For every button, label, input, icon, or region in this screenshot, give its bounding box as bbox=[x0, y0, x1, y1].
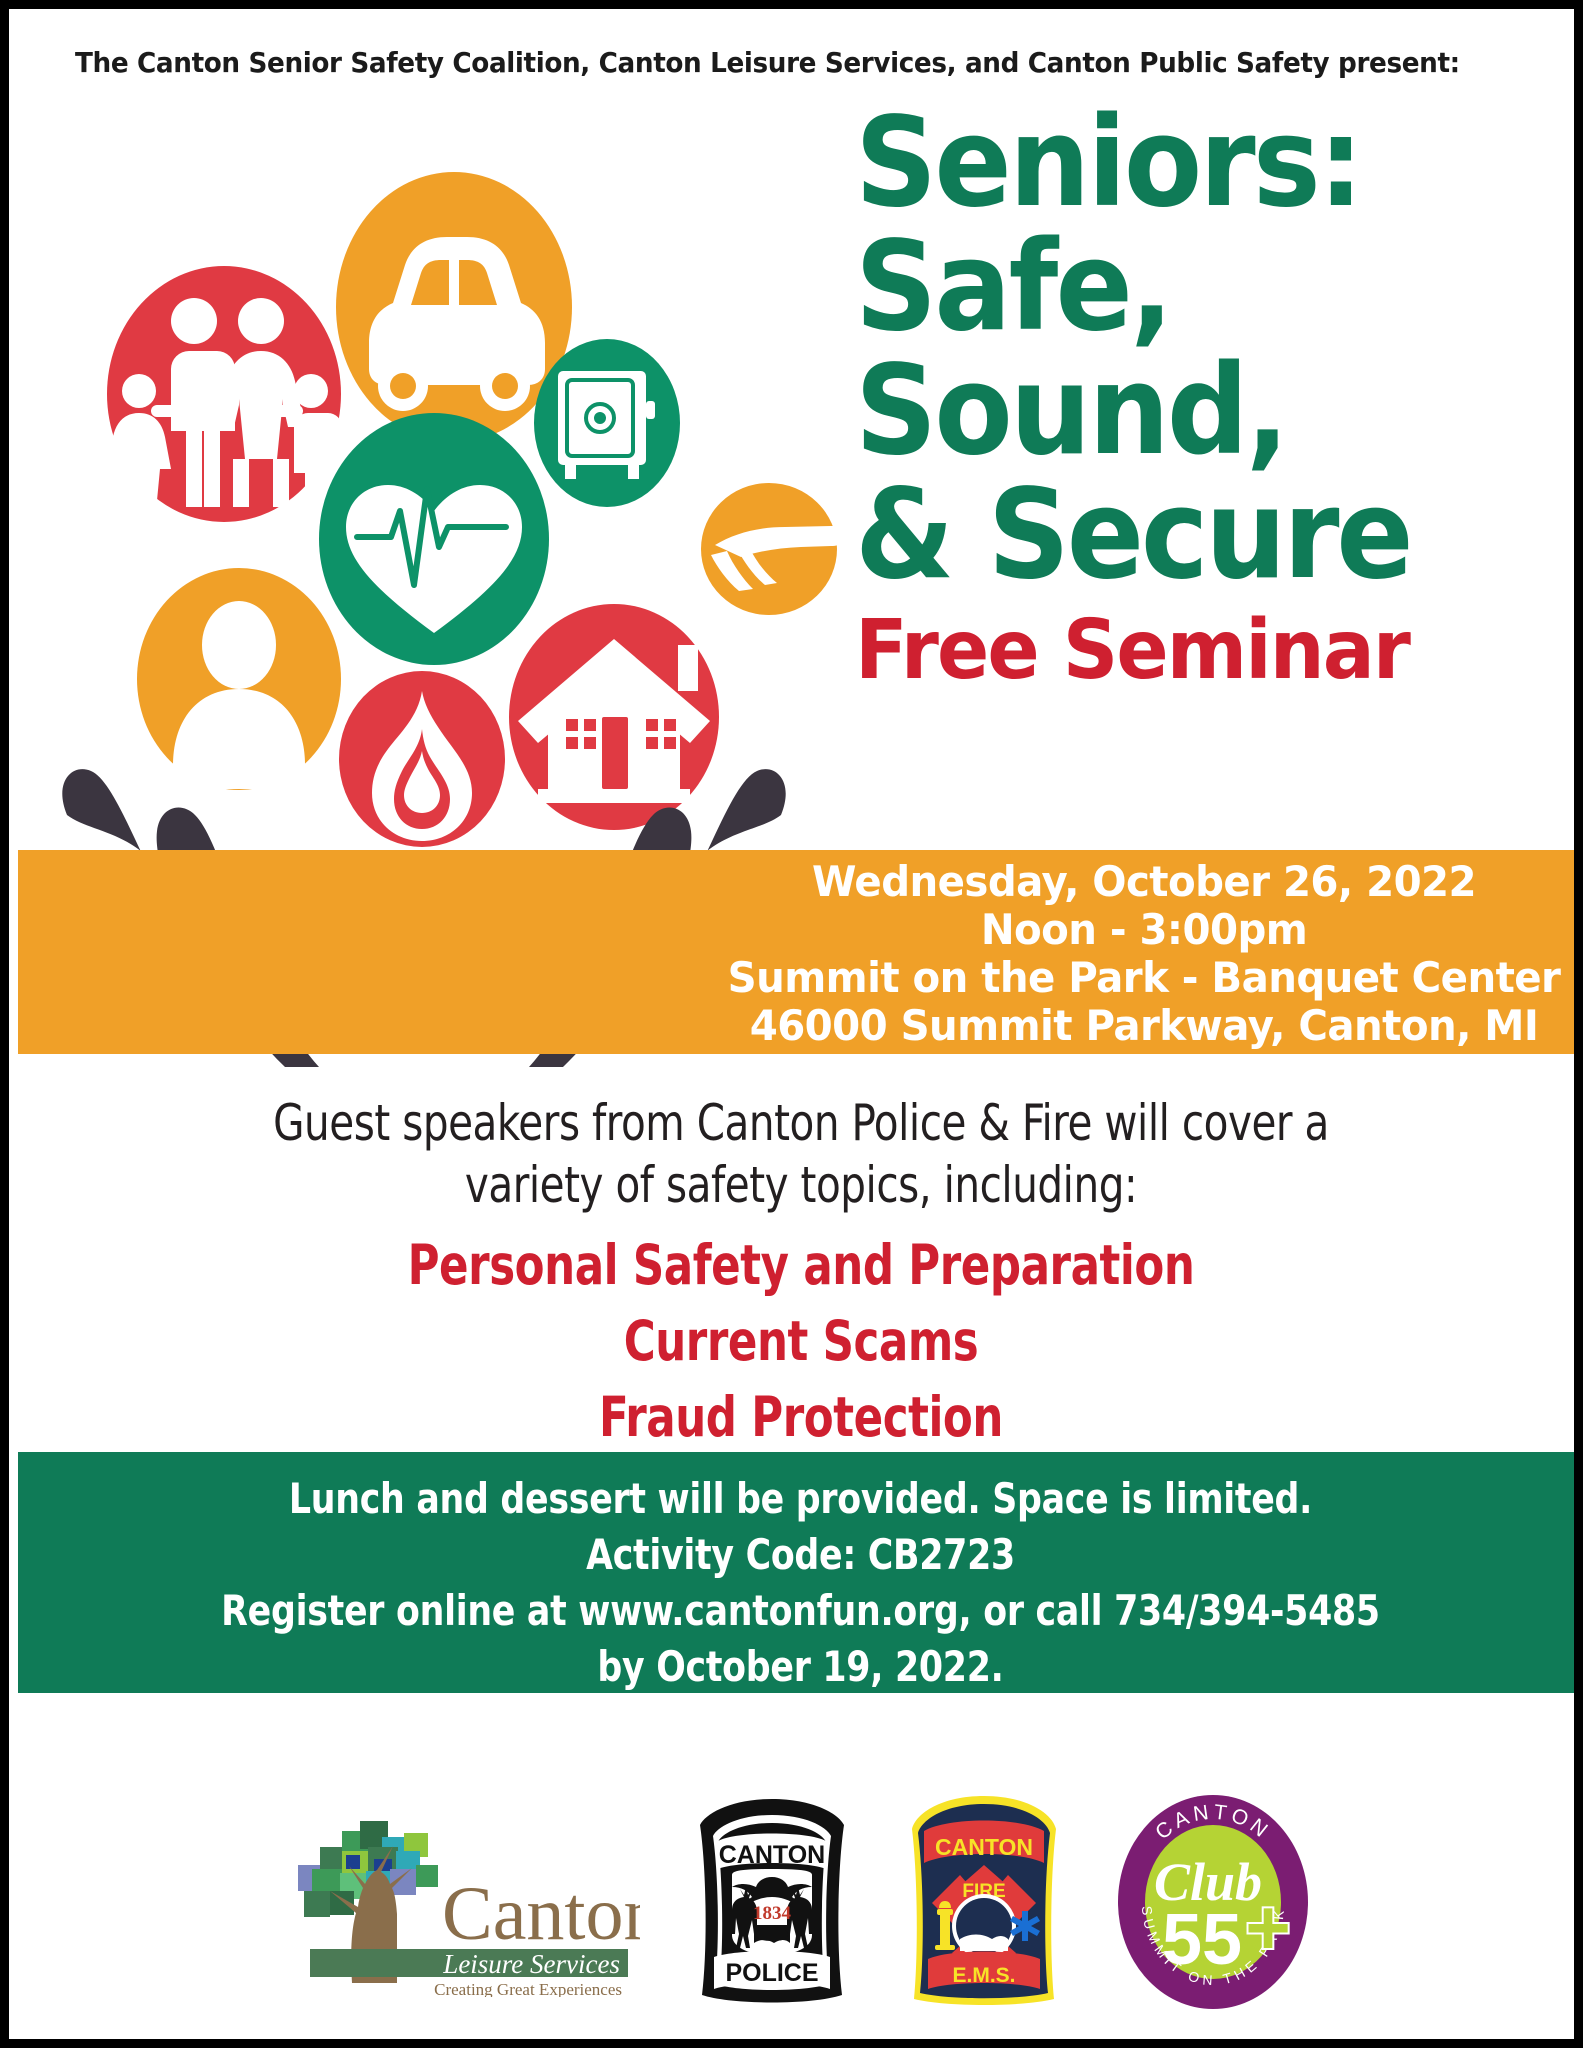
poster-canvas: The Canton Senior Safety Coalition, Cant… bbox=[0, 0, 1583, 2048]
family-icon bbox=[107, 266, 342, 549]
police-year-text: 1834 bbox=[753, 1903, 792, 1924]
club55-plus-text: + bbox=[1245, 1883, 1291, 1971]
intro-text: Guest speakers from Canton Police & Fire… bbox=[101, 1092, 1501, 1216]
police-top-text: CANTON bbox=[719, 1841, 825, 1869]
police-bottom-text: POLICE bbox=[725, 1959, 818, 1987]
house-icon bbox=[509, 604, 719, 830]
page-title: Seniors: Safe, Sound, & Secure Free Semi… bbox=[855, 101, 1555, 697]
title-line-3: Sound, bbox=[855, 349, 1499, 473]
event-details-text: Wednesday, October 26, 2022 Noon - 3:00p… bbox=[709, 858, 1579, 1050]
canton-club55-logo: CANTON SUMMIT ON THE PARK Club 55 + bbox=[1116, 1792, 1311, 2012]
registration-activity-code: Activity Code: CB2723 bbox=[109, 1527, 1492, 1583]
event-date: Wednesday, October 26, 2022 bbox=[726, 858, 1561, 906]
registration-deadline: by October 19, 2022. bbox=[109, 1639, 1492, 1695]
safe-icon bbox=[534, 339, 680, 507]
registration-line-1: Lunch and dessert will be provided. Spac… bbox=[109, 1471, 1492, 1527]
person-icon bbox=[137, 568, 341, 790]
title-line-1: Seniors: bbox=[855, 101, 1499, 225]
topic-item: Fraud Protection bbox=[185, 1379, 1417, 1455]
event-venue: Summit on the Park - Banquet Center bbox=[726, 954, 1561, 1002]
topic-item: Current Scams bbox=[185, 1303, 1417, 1379]
registration-text: Lunch and dessert will be provided. Spac… bbox=[49, 1471, 1552, 1695]
canton-police-logo: CANTON 1834 POLICE bbox=[692, 1795, 852, 2010]
sponsor-logos: Canton Leisure Services Creating Great E… bbox=[18, 1699, 1583, 2047]
airplane-icon bbox=[701, 483, 845, 615]
intro-line-1: Guest speakers from Canton Police & Fire… bbox=[171, 1092, 1431, 1154]
registration-link-and-phone[interactable]: Register online at www.cantonfun.org, or… bbox=[109, 1583, 1492, 1639]
intro-line-2: variety of safety topics, including: bbox=[171, 1154, 1431, 1216]
canton-leisure-services-logo: Canton Leisure Services Creating Great E… bbox=[290, 1807, 640, 1997]
title-subtitle: Free Seminar bbox=[855, 605, 1513, 697]
heartbeat-icon bbox=[319, 413, 549, 665]
event-time: Noon - 3:00pm bbox=[726, 906, 1561, 954]
event-address: 46000 Summit Parkway, Canton, MI bbox=[726, 1002, 1561, 1050]
leisure-services-text: Leisure Services bbox=[442, 1949, 620, 1979]
canton-wordmark: Canton bbox=[442, 1872, 640, 1956]
title-line-4: & Secure bbox=[855, 473, 1499, 597]
title-line-2: Safe, bbox=[855, 225, 1499, 349]
topics-list: Personal Safety and Preparation Current … bbox=[101, 1227, 1501, 1455]
fire-top-text: CANTON bbox=[935, 1834, 1033, 1860]
flame-icon bbox=[339, 671, 505, 847]
topic-item: Personal Safety and Preparation bbox=[185, 1227, 1417, 1303]
presenter-line: The Canton Senior Safety Coalition, Cant… bbox=[75, 47, 1460, 79]
tagline-text: Creating Great Experiences bbox=[434, 1980, 622, 1997]
club55-number-text: 55 bbox=[1162, 1900, 1242, 1980]
canton-fire-ems-logo: CANTON FIRE bbox=[904, 1793, 1064, 2011]
fire-bottom-text: E.M.S. bbox=[952, 1964, 1015, 1987]
